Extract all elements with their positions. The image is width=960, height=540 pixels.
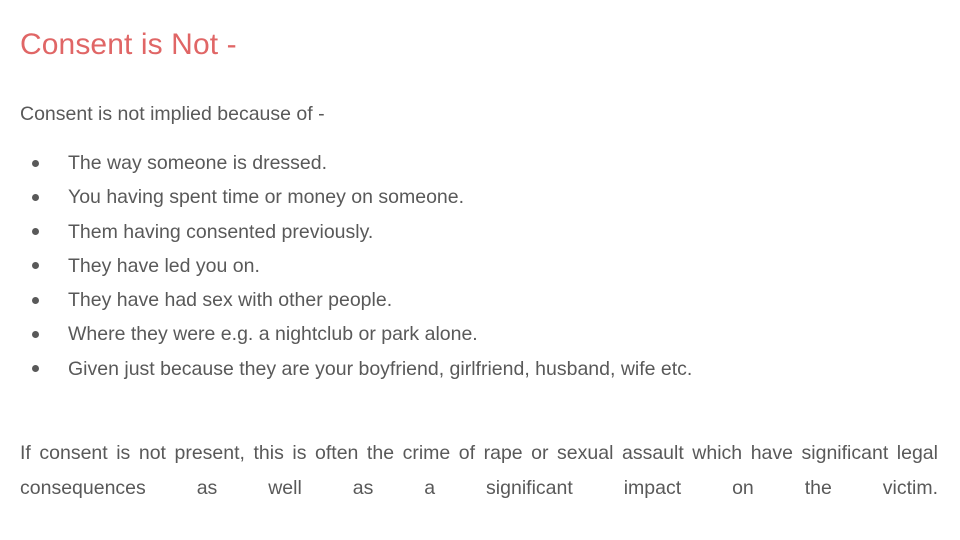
- list-item: They have had sex with other people.: [20, 287, 920, 321]
- bullet-dot-icon: [32, 262, 39, 269]
- page-title: Consent is Not -: [20, 26, 237, 64]
- bullet-dot-icon: [32, 194, 39, 201]
- list-item: Where they were e.g. a nightclub or park…: [20, 321, 920, 355]
- list-item-label: The way someone is dressed.: [68, 150, 327, 176]
- slide-canvas: Consent is Not - Consent is not implied …: [0, 0, 960, 540]
- list-item-label: They have had sex with other people.: [68, 287, 392, 313]
- bullet-dot-icon: [32, 331, 39, 338]
- list-item-label: You having spent time or money on someon…: [68, 184, 464, 210]
- list-item: They have led you on.: [20, 253, 920, 287]
- list-item-label: Them having consented previously.: [68, 219, 373, 245]
- closing-paragraph: If consent is not present, this is often…: [20, 436, 938, 540]
- list-item: The way someone is dressed.: [20, 150, 920, 184]
- list-item-label: They have led you on.: [68, 253, 260, 279]
- list-item: You having spent time or money on someon…: [20, 184, 920, 218]
- intro-line: Consent is not implied because of -: [20, 101, 325, 127]
- bullet-dot-icon: [32, 228, 39, 235]
- list-item: Them having consented previously.: [20, 219, 920, 253]
- bullet-list: The way someone is dressed. You having s…: [20, 150, 920, 390]
- list-item-label: Given just because they are your boyfrie…: [68, 356, 692, 382]
- bullet-dot-icon: [32, 297, 39, 304]
- bullet-dot-icon: [32, 160, 39, 167]
- list-item-label: Where they were e.g. a nightclub or park…: [68, 321, 478, 347]
- list-item: Given just because they are your boyfrie…: [20, 356, 920, 390]
- bullet-dot-icon: [32, 365, 39, 372]
